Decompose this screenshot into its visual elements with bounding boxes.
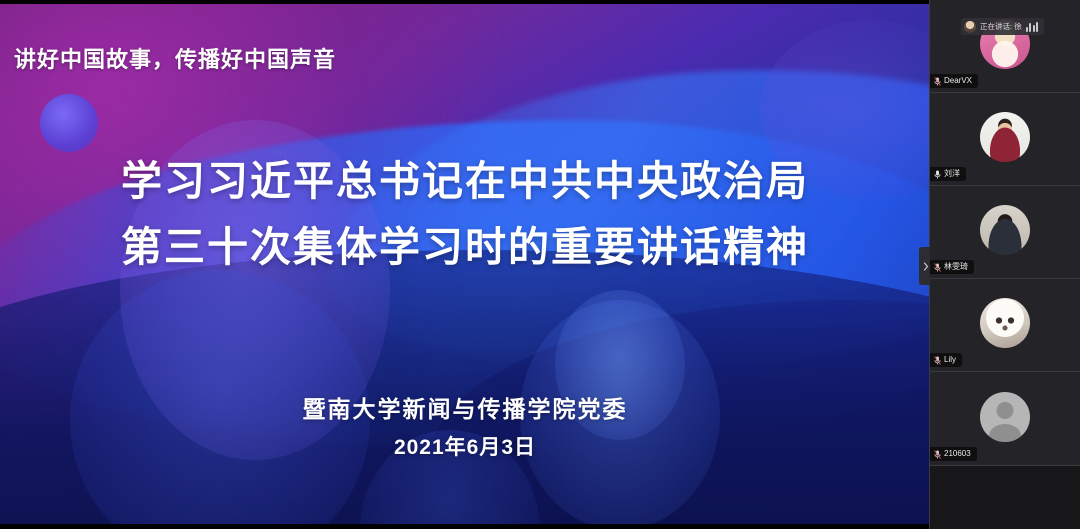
- participant-name: DearVX: [944, 76, 972, 86]
- participant-name-chip: DearVX: [930, 74, 978, 88]
- active-speaker-label: 正在讲话: 徐: [980, 22, 1022, 32]
- slide-title: 学习习近平总书记在中共中央政治局 第三十次集体学习时的重要讲话精神: [0, 148, 930, 280]
- participant-name: 210603: [944, 449, 971, 459]
- slide-title-line-2: 第三十次集体学习时的重要讲话精神: [0, 214, 930, 280]
- slide-organization: 暨南大学新闻与传播学院党委: [0, 392, 930, 426]
- participant-name-chip: Lily: [930, 353, 962, 367]
- participant-name-chip: 210603: [930, 447, 977, 461]
- mic-on-icon: [934, 170, 941, 179]
- slide-date: 2021年6月3日: [0, 426, 930, 470]
- chevron-right-icon: [923, 262, 929, 271]
- participant-name-chip: 刘洋: [930, 167, 966, 181]
- slide-kicker-text: 讲好中国故事，传播好中国声音: [14, 42, 336, 74]
- slide-title-line-1: 学习习近平总书记在中共中央政治局: [0, 148, 930, 214]
- audio-wave-icon: [1026, 21, 1039, 32]
- avatar: [980, 205, 1030, 255]
- speaker-avatar-icon: [964, 21, 976, 33]
- participant-tile[interactable]: 210603: [930, 372, 1080, 466]
- slide-decor-bubble: [40, 94, 98, 152]
- avatar: [980, 298, 1030, 348]
- avatar: [980, 392, 1030, 442]
- participant-tile[interactable]: 林雯琦: [930, 186, 1080, 279]
- participant-tile[interactable]: 刘洋: [930, 93, 1080, 186]
- participant-tile[interactable]: DearVX: [930, 0, 1080, 93]
- slide-footer: 暨南大学新闻与传播学院党委 2021年6月3日: [0, 392, 930, 470]
- participant-tile[interactable]: Lily: [930, 279, 1080, 372]
- mic-muted-icon: [934, 77, 941, 86]
- participant-filmstrip[interactable]: DearVX 刘洋: [929, 0, 1080, 529]
- participant-name-chip: 林雯琦: [930, 260, 974, 274]
- participant-name: Lily: [944, 355, 956, 365]
- letterbox-bar-top: [0, 0, 930, 4]
- avatar: [980, 112, 1030, 162]
- mic-muted-icon: [934, 263, 941, 272]
- panel-collapse-handle[interactable]: [919, 247, 930, 285]
- participant-name: 刘洋: [944, 169, 960, 179]
- shared-screen-stage[interactable]: 讲好中国故事，传播好中国声音 学习习近平总书记在中共中央政治局 第三十次集体学习…: [0, 0, 930, 529]
- mic-muted-icon: [934, 450, 941, 459]
- video-conference-window: 讲好中国故事，传播好中国声音 学习习近平总书记在中共中央政治局 第三十次集体学习…: [0, 0, 1080, 529]
- letterbox-bar-bottom: [0, 524, 930, 529]
- active-speaker-indicator: 正在讲话: 徐: [961, 18, 1044, 35]
- mic-muted-icon: [934, 356, 941, 365]
- participant-name: 林雯琦: [944, 262, 968, 272]
- presentation-slide: 讲好中国故事，传播好中国声音 学习习近平总书记在中共中央政治局 第三十次集体学习…: [0, 0, 930, 529]
